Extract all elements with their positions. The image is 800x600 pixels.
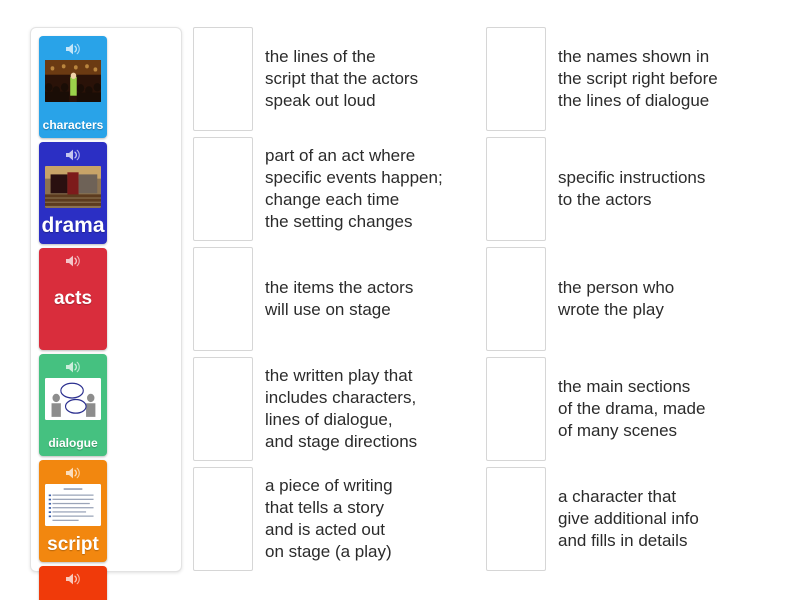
definition-text: part of an act where specific events hap… — [253, 137, 493, 241]
answer-row: a piece of writing that tells a story an… — [193, 467, 493, 571]
answer-row: the person who wrote the play — [486, 247, 786, 351]
tile-dialogue[interactable]: dialogue — [39, 354, 107, 456]
answer-row: the main sections of the drama, made of … — [486, 357, 786, 461]
definition-text: the main sections of the drama, made of … — [546, 357, 786, 461]
definition-text: the lines of the script that the actors … — [253, 27, 493, 131]
tile-script[interactable]: script — [39, 460, 107, 562]
drop-target-box[interactable] — [486, 247, 546, 351]
definition-text: a piece of writing that tells a story an… — [253, 467, 493, 571]
drop-target-box[interactable] — [193, 27, 253, 131]
tile-label: acts — [39, 289, 107, 309]
answer-column-right: the names shown in the script right befo… — [486, 27, 786, 577]
drop-target-box[interactable] — [193, 467, 253, 571]
drop-target-box[interactable] — [486, 137, 546, 241]
answer-row: a character that give additional info an… — [486, 467, 786, 571]
speaker-icon[interactable] — [65, 360, 81, 374]
definition-text: the names shown in the script right befo… — [546, 27, 786, 131]
tile-label: drama — [39, 215, 107, 244]
drop-target-box[interactable] — [486, 467, 546, 571]
answer-row: the items the actors will use on stage — [193, 247, 493, 351]
drop-target-box[interactable] — [486, 27, 546, 131]
definition-text: the written play that includes character… — [253, 357, 493, 461]
tile-drama[interactable]: drama — [39, 142, 107, 244]
script-page-document — [45, 484, 101, 526]
match-up-activity: charactersdramaactsdialoguescriptnarrato… — [0, 0, 800, 600]
tile-tray: charactersdramaactsdialoguescriptnarrato… — [30, 27, 182, 572]
tile-acts[interactable]: acts — [39, 248, 107, 350]
answer-row: part of an act where specific events hap… — [193, 137, 493, 241]
drop-target-box[interactable] — [486, 357, 546, 461]
tile-narrator[interactable]: narrator — [39, 566, 107, 600]
definition-text: the person who wrote the play — [546, 247, 786, 351]
speaker-icon[interactable] — [65, 42, 81, 56]
answer-row: specific instructions to the actors — [486, 137, 786, 241]
drop-target-box[interactable] — [193, 137, 253, 241]
drop-target-box[interactable] — [193, 357, 253, 461]
tile-label: dialogue — [39, 437, 107, 456]
speaker-icon[interactable] — [65, 466, 81, 480]
theater-stage-photo — [45, 166, 101, 208]
tile-characters[interactable]: characters — [39, 36, 107, 138]
answer-row: the written play that includes character… — [193, 357, 493, 461]
speaker-icon[interactable] — [65, 254, 81, 268]
tile-label: characters — [39, 119, 107, 138]
speaker-icon[interactable] — [65, 572, 81, 586]
speaker-icon[interactable] — [65, 148, 81, 162]
drop-target-box[interactable] — [193, 247, 253, 351]
tile-label: script — [39, 535, 107, 562]
audience-crowd-photo — [45, 60, 101, 102]
answer-column-left: the lines of the script that the actors … — [193, 27, 493, 577]
speech-bubbles-clipart — [45, 378, 101, 420]
answer-row: the lines of the script that the actors … — [193, 27, 493, 131]
definition-text: a character that give additional info an… — [546, 467, 786, 571]
definition-text: the items the actors will use on stage — [253, 247, 493, 351]
answer-row: the names shown in the script right befo… — [486, 27, 786, 131]
definition-text: specific instructions to the actors — [546, 137, 786, 241]
